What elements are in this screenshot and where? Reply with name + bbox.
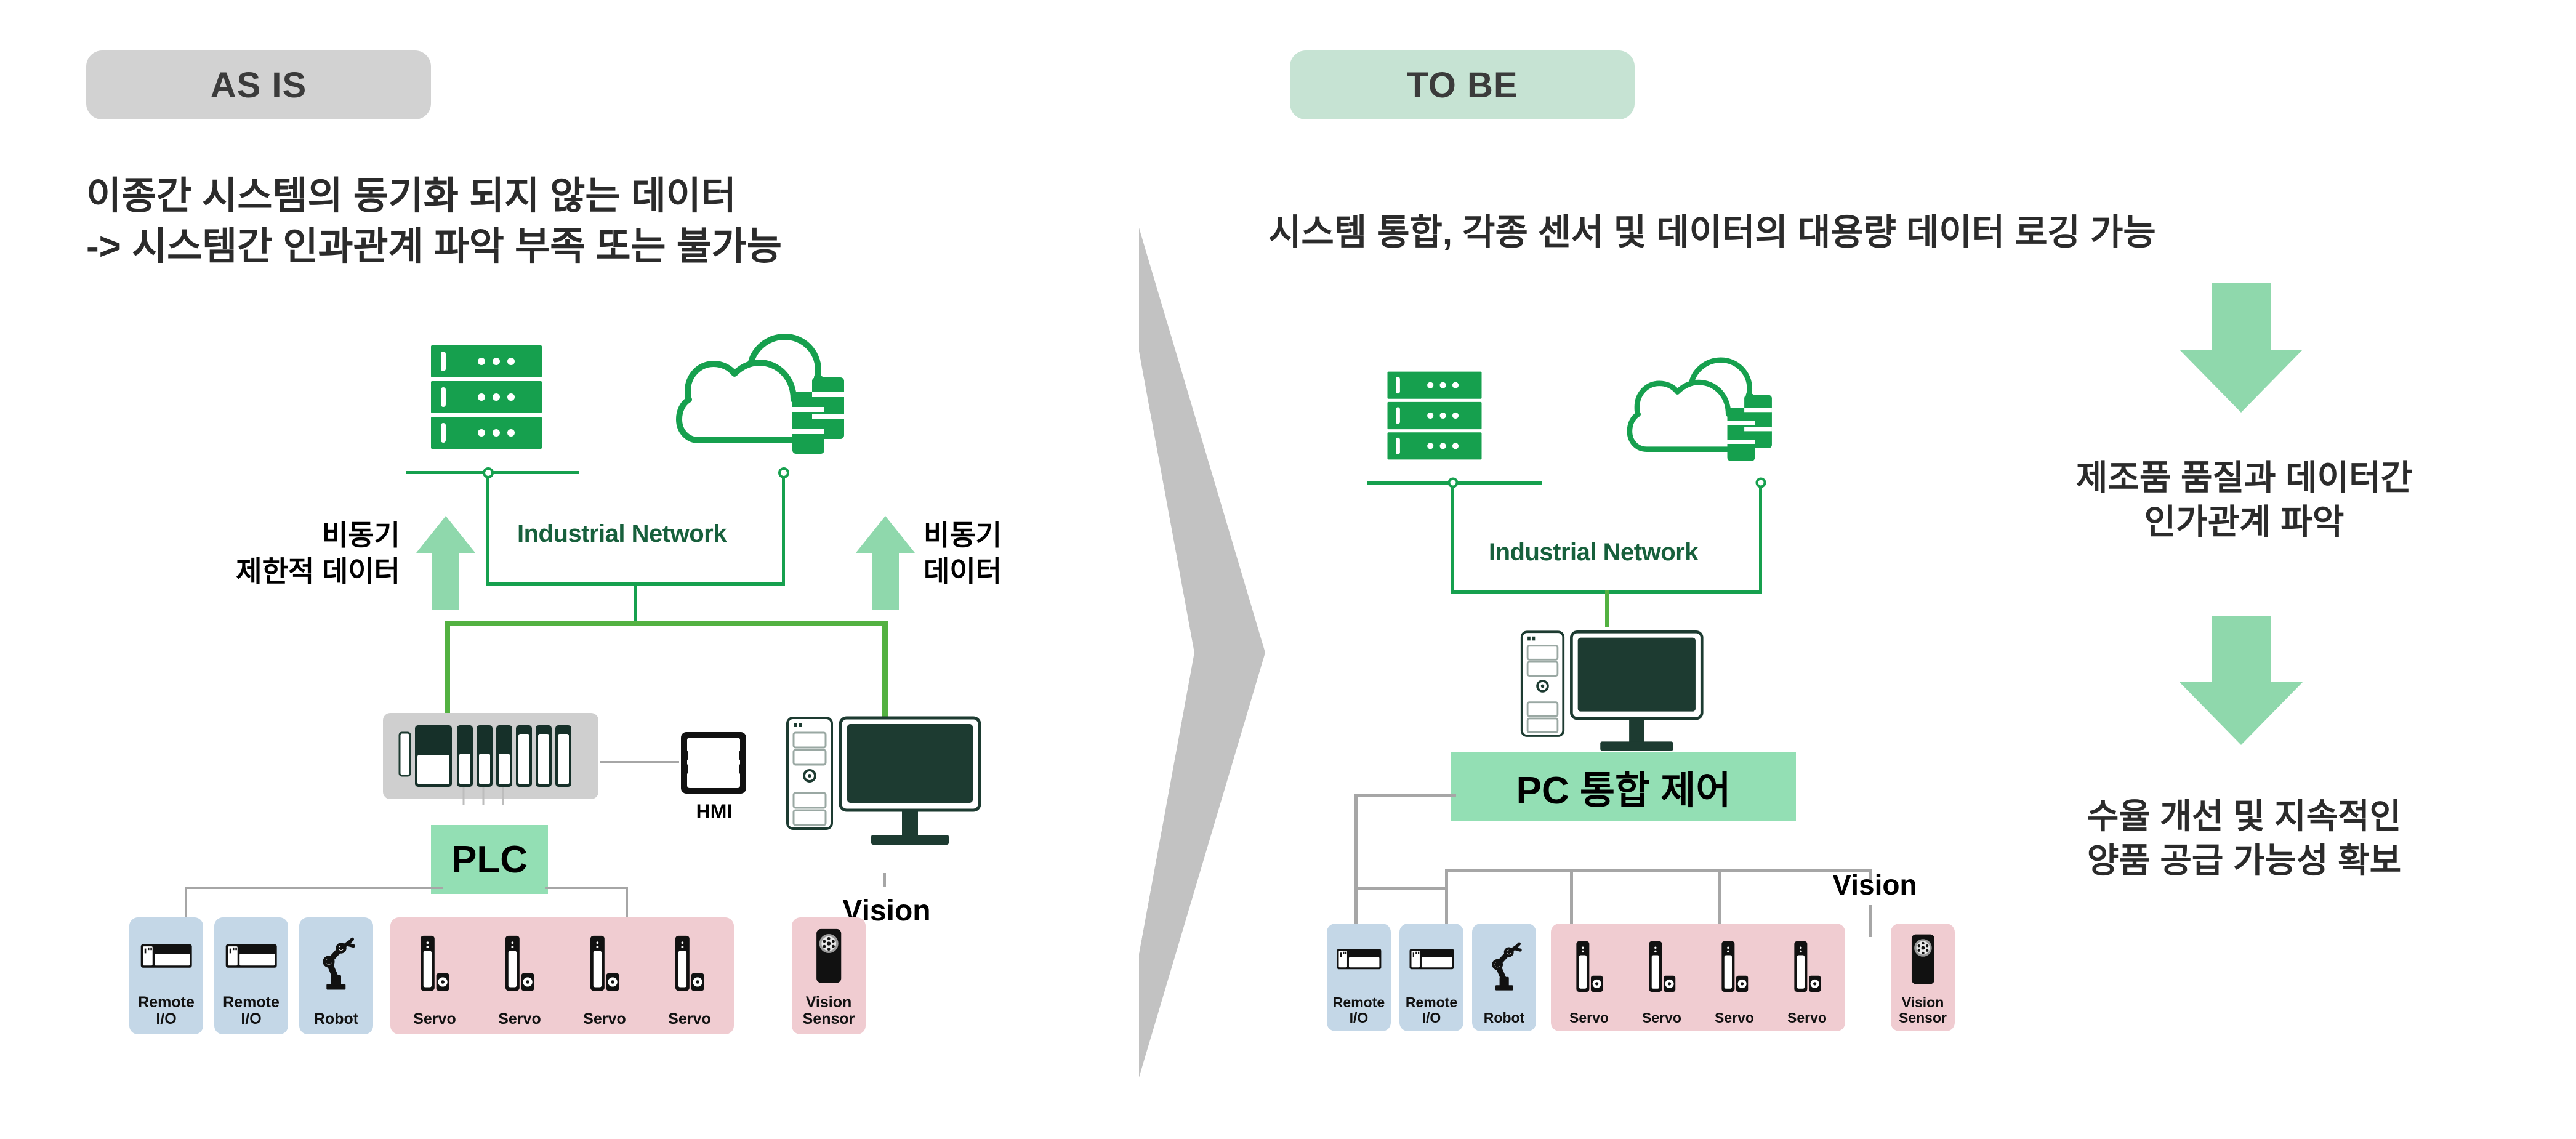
remote-io-icon xyxy=(1336,924,1382,995)
asis-net-drop-right xyxy=(782,478,785,586)
device-chip-servo-2[interactable]: Servo xyxy=(1630,924,1694,1031)
servo-icon xyxy=(664,917,715,1011)
asis-tree-right-rail xyxy=(545,887,628,889)
robot-arm-icon xyxy=(315,917,358,1011)
up-arrow-icon xyxy=(416,516,475,610)
cloud-database-icon xyxy=(1625,348,1779,471)
asis-main-bus xyxy=(445,621,888,626)
outcome-2: 수율 개선 및 지속적인 양품 공급 가능성 확보 xyxy=(1952,794,2537,882)
device-chip-robot[interactable]: Robot xyxy=(1472,924,1536,1031)
asis-net-to-bus xyxy=(634,582,637,623)
servo-icon xyxy=(664,935,715,993)
device-chip-remote-io-1[interactable]: Remote I/O xyxy=(129,917,203,1034)
device-chip-servo-4[interactable]: Servo xyxy=(1775,924,1839,1031)
tobe-device-row: Remote I/O Remote I/O xyxy=(1327,924,1992,1031)
remote-io-icon xyxy=(1409,945,1455,973)
device-chip-label: Servo xyxy=(1715,1010,1754,1025)
servo-icon xyxy=(1640,924,1684,1010)
device-chip-label: Vision Sensor xyxy=(1899,995,1947,1025)
device-chip-remote-io-1[interactable]: Remote I/O xyxy=(1327,924,1391,1031)
chevron-right-icon xyxy=(1136,228,1265,1077)
asis-description: 이종간 시스템의 동기화 되지 않는 데이터 -> 시스템간 인과관계 파악 부… xyxy=(86,171,1133,273)
tobe-net-drop-left xyxy=(1451,488,1454,594)
servo-icon xyxy=(579,935,630,993)
robot-arm-icon xyxy=(1486,941,1523,992)
device-chip-label: Robot xyxy=(314,1011,358,1028)
desktop-pc-icon xyxy=(1519,627,1704,771)
asis-right-arrow-label: 비동기 데이터 xyxy=(924,517,1121,590)
device-chip-servo-1[interactable]: Servo xyxy=(1557,924,1621,1031)
device-chip-label: Servo xyxy=(668,1011,710,1028)
tobe-badge: TO BE xyxy=(1290,50,1635,119)
device-chip-servo-4[interactable]: Servo xyxy=(653,917,727,1034)
device-chip-vision-sensor[interactable]: Vision Sensor xyxy=(1891,924,1955,1031)
device-chip-robot[interactable]: Robot xyxy=(299,917,373,1034)
up-arrow-icon xyxy=(856,516,915,610)
asis-tree-left-rail xyxy=(185,887,443,889)
hmi-panel-icon xyxy=(677,730,750,797)
remote-io-icon xyxy=(1409,924,1455,995)
remote-io-icon xyxy=(225,917,278,994)
asis-vision-stub xyxy=(883,873,886,887)
tobe-network-label: Industrial Network xyxy=(1489,539,1698,566)
asis-bus-drop-vision xyxy=(882,621,888,720)
down-arrow-icon xyxy=(2180,616,2303,745)
servo-icon xyxy=(1785,940,1829,994)
device-chip-label: Remote I/O xyxy=(1406,995,1457,1025)
device-chip-label: Remote I/O xyxy=(223,994,280,1027)
servo-icon xyxy=(494,917,545,1011)
device-chip-vision-sensor[interactable]: Vision Sensor xyxy=(792,917,866,1034)
tobe-tree-mid-rail xyxy=(1354,887,1448,890)
asis-left-arrow-label: 비동기 제한적 데이터 xyxy=(86,517,400,590)
plc-label-box: PLC xyxy=(431,825,548,894)
remote-io-icon xyxy=(1336,945,1382,973)
device-chip-servo-3[interactable]: Servo xyxy=(1702,924,1766,1031)
servo-icon xyxy=(1568,924,1611,1010)
device-chip-label: Servo xyxy=(1787,1010,1827,1025)
device-chip-servo-2[interactable]: Servo xyxy=(483,917,557,1034)
vision-sensor-icon xyxy=(1900,933,1946,985)
device-chip-label: Remote I/O xyxy=(1333,995,1385,1025)
servo-icon xyxy=(579,917,630,1011)
desktop-pc-icon xyxy=(785,714,982,865)
tobe-net-drop-right xyxy=(1759,488,1762,594)
servo-icon xyxy=(1713,924,1757,1010)
down-arrow-icon xyxy=(2180,283,2303,413)
tobe-tree-top-rail xyxy=(1354,794,1456,797)
device-chip-label: Servo xyxy=(413,1011,456,1028)
tobe-net-to-pc xyxy=(1605,590,1609,627)
servo-icon xyxy=(1568,940,1611,994)
device-chip-label: Remote I/O xyxy=(138,994,195,1027)
servo-icon xyxy=(494,935,545,993)
servo-icon xyxy=(1640,940,1684,994)
servo-icon xyxy=(1713,940,1757,994)
remote-io-icon xyxy=(225,941,278,971)
pc-label-box: PC 통합 제어 xyxy=(1451,752,1796,821)
device-chip-label: Robot xyxy=(1484,1010,1524,1025)
asis-network-label: Industrial Network xyxy=(517,520,727,548)
servo-icon xyxy=(409,917,460,1011)
device-chip-servo-1[interactable]: Servo xyxy=(398,917,472,1034)
diagram-root: AS IS 이종간 시스템의 동기화 되지 않는 데이터 -> 시스템간 인과관… xyxy=(0,0,2576,1139)
vision-sensor-icon xyxy=(802,917,855,994)
tobe-description: 시스템 통합, 각종 센서 및 데이터의 대용량 데이터 로깅 가능 xyxy=(1268,209,2537,256)
robot-arm-icon xyxy=(315,936,358,992)
asis-bus-drop-plc xyxy=(445,621,450,722)
device-chip-label: Servo xyxy=(498,1011,541,1028)
robot-arm-icon xyxy=(1486,924,1523,1010)
servo-icon xyxy=(409,935,460,993)
asis-plc-hmi-link xyxy=(600,761,679,763)
tobe-vision-label: Vision xyxy=(1804,868,1946,901)
asis-net-drop-left xyxy=(486,478,489,586)
device-chip-remote-io-2[interactable]: Remote I/O xyxy=(214,917,288,1034)
server-rack-icon xyxy=(1382,363,1487,468)
device-chip-label: Servo xyxy=(1569,1010,1609,1025)
servo-icon xyxy=(1785,924,1829,1010)
vision-sensor-icon xyxy=(802,928,855,984)
server-rack-icon xyxy=(425,336,548,459)
hmi-label: HMI xyxy=(671,800,757,823)
asis-badge: AS IS xyxy=(86,50,431,119)
plc-rack-icon xyxy=(383,713,598,807)
vision-sensor-icon xyxy=(1900,924,1946,995)
remote-io-icon xyxy=(140,917,193,994)
device-chip-label: Servo xyxy=(583,1011,626,1028)
device-chip-label: Vision Sensor xyxy=(803,994,855,1027)
cloud-database-icon xyxy=(674,323,853,465)
device-chip-remote-io-2[interactable]: Remote I/O xyxy=(1399,924,1463,1031)
outcome-1: 제조품 품질과 데이터간 인가관계 파악 xyxy=(1952,456,2537,544)
device-chip-servo-3[interactable]: Servo xyxy=(568,917,642,1034)
device-chip-label: Servo xyxy=(1642,1010,1681,1025)
asis-device-row: Remote I/O Remote I/O xyxy=(129,917,1004,1034)
remote-io-icon xyxy=(140,941,193,971)
